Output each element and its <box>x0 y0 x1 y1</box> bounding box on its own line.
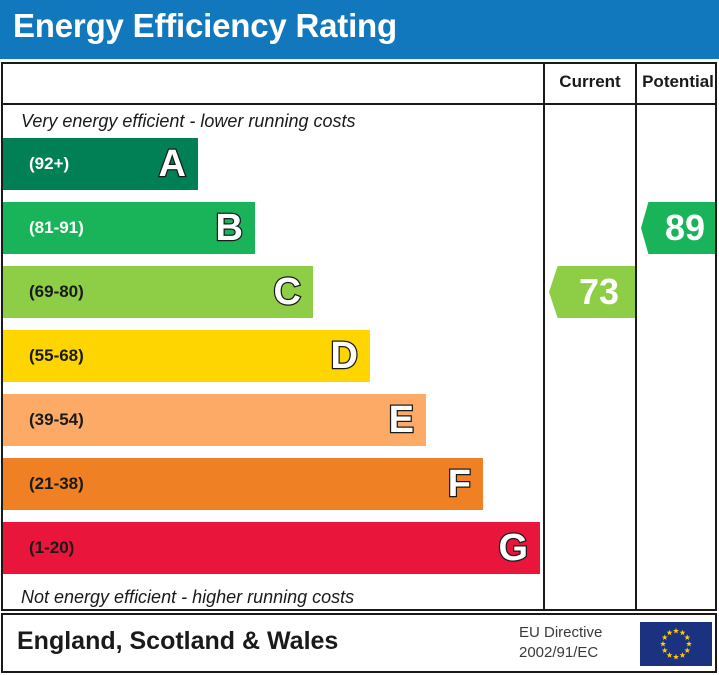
directive-line-2: 2002/91/EC <box>519 643 631 663</box>
page-title: Energy Efficiency Rating <box>13 7 397 45</box>
footer-region-label: England, Scotland & Wales <box>17 627 338 656</box>
rating-band-c: (69-80)C <box>3 266 313 318</box>
current-column-header: Current <box>545 72 635 92</box>
band-letter-b: B <box>216 209 243 247</box>
band-range-c: (69-80) <box>29 282 84 302</box>
footer-bar: England, Scotland & Wales EU Directive 2… <box>1 613 717 673</box>
footer-directive: EU Directive 2002/91/EC <box>519 623 631 664</box>
current-rating-value: 73 <box>565 274 619 310</box>
potential-rating-arrow: 89 <box>641 202 715 254</box>
band-letter-f: F <box>448 465 471 503</box>
band-letter-e: E <box>389 401 414 439</box>
eu-flag-icon <box>640 622 712 666</box>
rating-table: Current Potential Very energy efficient … <box>1 62 717 611</box>
band-letter-g: G <box>498 529 528 567</box>
potential-column-header: Potential <box>637 72 719 92</box>
band-range-d: (55-68) <box>29 346 84 366</box>
band-range-b: (81-91) <box>29 218 84 238</box>
caption-inefficient: Not energy efficient - higher running co… <box>21 587 354 608</box>
title-bar: Energy Efficiency Rating <box>0 0 719 59</box>
band-range-e: (39-54) <box>29 410 84 430</box>
energy-efficiency-rating-chart: Energy Efficiency Rating Current Potenti… <box>0 0 719 675</box>
current-column-divider <box>543 64 545 609</box>
rating-band-a: (92+)A <box>3 138 198 190</box>
rating-band-f: (21-38)F <box>3 458 483 510</box>
band-letter-a: A <box>159 145 186 183</box>
band-range-a: (92+) <box>29 154 69 174</box>
rating-band-g: (1-20)G <box>3 522 540 574</box>
rating-band-d: (55-68)D <box>3 330 370 382</box>
rating-bands: (92+)A(81-91)B(69-80)C(55-68)D(39-54)E(2… <box>3 138 541 585</box>
band-letter-c: C <box>274 273 301 311</box>
potential-column-divider <box>635 64 637 609</box>
header-divider <box>3 103 715 105</box>
rating-band-e: (39-54)E <box>3 394 426 446</box>
band-range-g: (1-20) <box>29 538 74 558</box>
directive-line-1: EU Directive <box>519 623 631 643</box>
band-range-f: (21-38) <box>29 474 84 494</box>
rating-band-b: (81-91)B <box>3 202 255 254</box>
potential-rating-value: 89 <box>651 210 705 246</box>
current-rating-arrow: 73 <box>549 266 635 318</box>
caption-efficient: Very energy efficient - lower running co… <box>21 111 356 132</box>
band-letter-d: D <box>331 337 358 375</box>
